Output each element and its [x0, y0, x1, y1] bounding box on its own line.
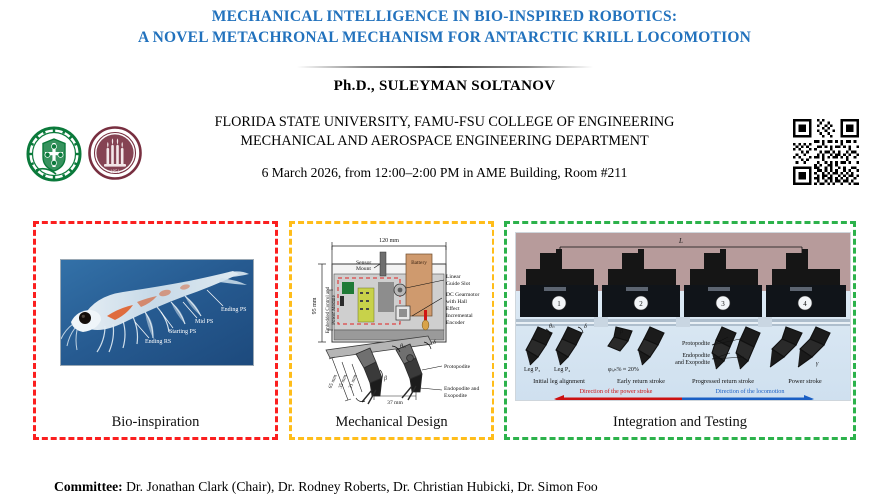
- angle-beta: β: [383, 376, 387, 382]
- fsu-seal-icon: 1851: [88, 126, 142, 180]
- label-endopodite-2: and Exopodite: [675, 360, 710, 366]
- krill-photo: Ending PS Mid PS Starting PS Ending RS: [60, 259, 254, 366]
- panel-mechanical-design[interactable]: 120 mm 95 mm Sensor Mount Battery: [289, 221, 494, 440]
- callout-battery: Battery: [411, 260, 427, 266]
- krill-label-mid-ps: Mid PS: [195, 319, 213, 325]
- svg-text:Incremental: Incremental: [446, 313, 473, 319]
- callout-protopodite: Protopodite: [444, 364, 471, 370]
- callout-embedded-module: Embedded Control and: [326, 286, 331, 333]
- label-endopodite-1: Endopodite: [682, 353, 710, 359]
- svg-text:Encoder: Encoder: [446, 320, 465, 326]
- dim-37mm: 37 mm: [387, 400, 403, 405]
- panel-bio-inspiration[interactable]: Ending PS Mid PS Starting PS Ending RS B…: [33, 221, 278, 440]
- svg-text:with Hall: with Hall: [446, 299, 467, 305]
- title-line-1: MECHANICAL INTELLIGENCE IN BIO-INSPIRED …: [0, 6, 889, 27]
- angle-theta-frame1: θₕ: [549, 324, 555, 330]
- committee-label: Committee:: [54, 479, 123, 494]
- frame-caption-2: Early return stroke: [617, 378, 665, 385]
- frame-number-4: 4: [803, 300, 807, 308]
- leg-label-p4: Leg P₄: [554, 367, 570, 373]
- panel2-caption: Mechanical Design: [292, 414, 491, 431]
- title-line-2: A NOVEL METACHRONAL MECHANISM FOR ANTARC…: [0, 27, 889, 48]
- frame-caption-3: Progressed return stroke: [692, 378, 754, 385]
- svg-text:1851: 1851: [110, 170, 121, 175]
- committee-line: Committee: Dr. Jonathan Clark (Chair), D…: [54, 479, 598, 495]
- callout-endopodite: Endopodite and: [444, 386, 479, 392]
- label-protopodite: Protopodite: [682, 341, 710, 347]
- callout-dc-gearmotor: DC Gearmotor: [446, 292, 480, 298]
- frame-number-1: 1: [557, 300, 561, 308]
- panel1-caption: Bio-inspiration: [36, 414, 275, 431]
- frame-number-3: 3: [721, 300, 725, 308]
- frame-caption-1: Initial leg alignment: [533, 378, 585, 385]
- leg-label-p3: Leg P₃: [524, 367, 540, 373]
- presenter-name: Ph.D., SULEYMAN SOLTANOV: [0, 78, 889, 95]
- page-title: MECHANICAL INTELLIGENCE IN BIO-INSPIRED …: [0, 6, 889, 48]
- arrow-label-locomotion: Direction of the locomotion: [716, 388, 785, 395]
- callout-linear-guide-slot: Linear: [446, 274, 461, 280]
- angle-theta-h: θₕ: [400, 344, 406, 350]
- university-logos: 1851: [26, 126, 146, 184]
- famu-seal-icon: [26, 126, 82, 182]
- dim-120mm: 120 mm: [379, 238, 399, 244]
- krill-label-ending-rs: Ending RS: [145, 339, 171, 345]
- phase-lag-label: φₗₐₕ% ≈ 20%: [608, 367, 639, 373]
- testing-sequence-photo: L 1 2: [515, 232, 851, 401]
- dim-95mm: 95 mm: [312, 297, 318, 314]
- span-label-L: L: [678, 237, 683, 245]
- panel-integration-testing[interactable]: L 1 2: [504, 221, 856, 440]
- panel3-caption: Integration and Testing: [507, 414, 853, 431]
- angle-delta-frame1: δ: [584, 324, 587, 330]
- svg-text:Effect: Effect: [446, 305, 460, 312]
- cad-drawing-figure: 120 mm 95 mm Sensor Mount Battery: [296, 230, 492, 405]
- frame-caption-4: Power stroke: [788, 378, 822, 385]
- svg-text:Guide Slot: Guide Slot: [446, 281, 471, 287]
- svg-text:Exopodite: Exopodite: [444, 393, 468, 399]
- title-divider: [297, 66, 593, 68]
- frame-number-2: 2: [639, 300, 643, 308]
- angle-delta: δ: [433, 340, 436, 346]
- krill-label-starting-ps: Starting PS: [169, 329, 196, 335]
- angle-beta-frame2: β: [619, 329, 623, 335]
- qr-code-icon[interactable]: [793, 119, 859, 185]
- svg-text:Power Module: Power Module: [332, 294, 337, 324]
- arrow-label-power-stroke: Direction of the power stroke: [580, 388, 653, 395]
- committee-names: Dr. Jonathan Clark (Chair), Dr. Rodney R…: [126, 479, 598, 494]
- krill-label-ending-ps: Ending PS: [221, 307, 247, 313]
- svg-text:Mount: Mount: [356, 266, 371, 272]
